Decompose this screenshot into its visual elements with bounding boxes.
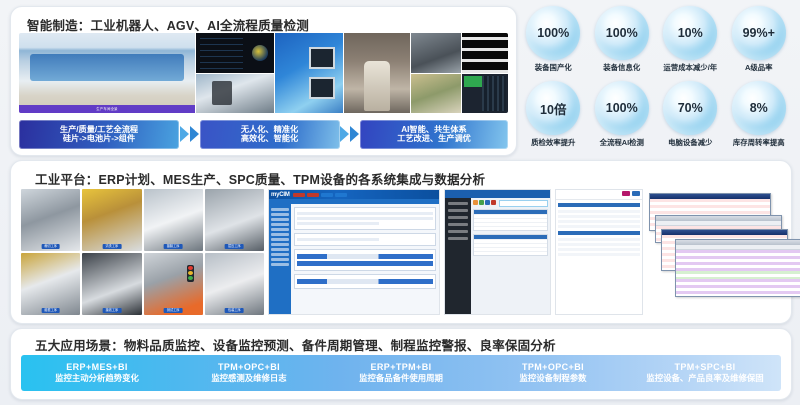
grid-photo-caption: 裁切工序	[41, 244, 60, 249]
application-desc: 监控设备、产品良率及维修保固	[629, 373, 781, 384]
app-table-bottom	[473, 234, 548, 256]
kpi-value-bubble: 70%	[663, 81, 717, 135]
application-column: ERP+MES+BI 监控主动分析趋势变化	[21, 362, 173, 384]
mes-body	[269, 204, 439, 314]
mes-screenshot: myCIM	[268, 189, 440, 315]
kpi-value-bubble: 100%	[595, 6, 649, 60]
app-sidebar	[445, 198, 471, 314]
application-scenarios-bar: ERP+MES+BI 监控主动分析趋势变化 TPM+OPC+BI 监控感测及维修…	[21, 355, 781, 391]
kpi-label: 装备信息化	[603, 62, 640, 73]
cascading-windows-screenshot	[647, 189, 785, 315]
application-desc: 监控备品备件使用周期	[325, 373, 477, 384]
flow-stage-3-line2: 工艺改进、生产调优	[397, 134, 471, 143]
smart-manufacturing-section: 智能制造：工业机器人、AGV、AI全流程质量检测 生产车间全景 生产/质量/工艺…	[10, 6, 517, 156]
mes-form-panel	[294, 207, 436, 230]
kpi-label: 库存周转率提高	[733, 137, 785, 148]
app-main-panel	[471, 198, 550, 314]
industrial-platform-section: 工业平台：ERP计划、MES生产、SPC质量、TPM设备的各系统集成与数据分析 …	[10, 160, 792, 324]
factory-photo-strip: 生产车间全景	[19, 33, 508, 113]
applications-section: 五大应用场景：物料品质监控、设备监控预测、备件周期管理、制程监控警报、良率保固分…	[10, 328, 792, 400]
application-column: ERP+TPM+BI 监控备品备件使用周期	[325, 362, 477, 384]
grid-photo: 清洗工序	[82, 189, 141, 251]
application-tech: ERP+MES+BI	[21, 362, 173, 373]
app-search-input[interactable]	[499, 200, 548, 207]
bi-report-header	[556, 190, 642, 200]
flow-stage-3: AI智能、共生体系 工艺改进、生产调优	[360, 120, 508, 149]
kpi-value-bubble: 8%	[732, 81, 786, 135]
application-desc: 监控感测及维修日志	[173, 373, 325, 384]
photo-production-line: 生产车间全景	[19, 33, 195, 113]
kpi-label: 电脑设备减少	[668, 137, 712, 148]
kpi-value-bubble: 10%	[663, 6, 717, 60]
kpi-label: 质检效率提升	[531, 137, 575, 148]
grid-photo-caption: 包装工序	[225, 308, 244, 313]
application-desc: 监控主动分析趋势变化	[21, 373, 173, 384]
kpi-label: 运营成本减少/年	[663, 62, 717, 73]
applications-title: 五大应用场景：物料品质监控、设备监控预测、备件周期管理、制程监控警报、良率保固分…	[35, 335, 556, 354]
app-titlebar	[445, 190, 550, 198]
flow-stage-1: 生产/质量/工艺全流程 硅片->电池片->组件	[19, 120, 179, 149]
kpi-label: 全流程AI检测	[600, 137, 644, 148]
process-photo-grid: 裁切工序 清洗工序 镀膜工序 层压工序 组框工序 接线工序	[21, 189, 264, 315]
kpi-item: 10% 运营成本减少/年	[657, 6, 724, 79]
kpi-item: 100% 全流程AI检测	[589, 81, 656, 154]
flow-stage-1-line2: 硅片->电池片->组件	[63, 134, 135, 143]
application-tech: TPM+SPC+BI	[629, 362, 781, 373]
legacy-window-4[interactable]	[675, 239, 800, 297]
grid-photo: 包装工序	[205, 253, 264, 315]
kpi-item: 100% 装备国产化	[520, 6, 587, 79]
photo-agv-robot	[344, 33, 410, 113]
photo-optical-inspection	[275, 33, 343, 113]
mes-search-panel	[294, 233, 436, 246]
flow-stage-2: 无人化、精准化 高效化、智能化	[200, 120, 340, 149]
smart-manufacturing-title: 智能制造：工业机器人、AGV、AI全流程质量检测	[27, 15, 309, 34]
grid-photo-caption: 接线工序	[103, 308, 122, 313]
application-column: TPM+OPC+BI 监控设备制程参数	[477, 362, 629, 384]
window-grid-purple-2	[676, 279, 800, 296]
grid-photo-caption: 测试工序	[164, 308, 183, 313]
grid-photo-caption: 清洗工序	[103, 244, 122, 249]
photo-inspection-equipment	[196, 33, 274, 113]
app-body	[445, 198, 550, 314]
application-column: TPM+OPC+BI 监控感测及维修日志	[173, 362, 325, 384]
app-toolbar	[473, 200, 548, 207]
industrial-platform-title: 工业平台：ERP计划、MES生产、SPC质量、TPM设备的各系统集成与数据分析	[35, 169, 485, 188]
app-table-top	[473, 209, 548, 231]
kpi-value-bubble: 100%	[526, 6, 580, 60]
grid-photo: 镀膜工序	[144, 189, 203, 251]
grid-photo-caption: 组框工序	[41, 308, 60, 313]
kpi-label: A级品率	[745, 62, 773, 73]
grid-photo: 组框工序	[21, 253, 80, 315]
kpi-panel: 100% 装备国产化 100% 装备信息化 10% 运营成本减少/年 99%+ …	[520, 6, 792, 154]
kpi-label: 装备国产化	[535, 62, 572, 73]
monitoring-app-screenshot	[444, 189, 551, 315]
grid-photo: 接线工序	[82, 253, 141, 315]
application-desc: 监控设备制程参数	[477, 373, 629, 384]
application-tech: TPM+OPC+BI	[173, 362, 325, 373]
window-grid-purple	[676, 250, 800, 271]
kpi-item: 100% 装备信息化	[589, 6, 656, 79]
kpi-item: 8% 库存周转率提高	[726, 81, 793, 154]
bi-report-screenshot	[555, 189, 643, 315]
mes-sidebar	[269, 204, 291, 314]
photo-line-equipment	[411, 33, 461, 113]
slide-root: 智能制造：工业机器人、AGV、AI全流程质量检测 生产车间全景 生产/质量/工艺…	[0, 0, 800, 405]
photo-module-inspection	[462, 33, 508, 113]
grid-photo: 层压工序	[205, 189, 264, 251]
platform-content-row: 裁切工序 清洗工序 镀膜工序 层压工序 组框工序 接线工序	[21, 189, 785, 315]
process-flow-row: 生产/质量/工艺全流程 硅片->电池片->组件 无人化、精准化 高效化、智能化 …	[19, 119, 508, 149]
flow-stage-2-line2: 高效化、智能化	[241, 134, 298, 143]
flow-stage-2-line1: 无人化、精准化	[241, 125, 298, 134]
window-grid-green	[676, 271, 800, 279]
grid-photo-caption: 镀膜工序	[164, 244, 183, 249]
flow-stage-3-line1: AI智能、共生体系	[401, 125, 467, 134]
mes-tab-strip	[293, 193, 347, 197]
mes-titlebar: myCIM	[269, 190, 439, 199]
kpi-item: 10倍 质检效率提升	[520, 81, 587, 154]
mes-table-panel	[294, 249, 436, 271]
kpi-value-bubble: 100%	[595, 81, 649, 135]
arrow-icon-2	[340, 126, 361, 142]
kpi-value-bubble: 99%+	[732, 6, 786, 60]
signal-tower-icon	[187, 265, 194, 282]
grid-photo: 测试工序	[144, 253, 203, 315]
application-tech: ERP+TPM+BI	[325, 362, 477, 373]
grid-photo: 裁切工序	[21, 189, 80, 251]
grid-photo-caption: 层压工序	[225, 244, 244, 249]
application-tech: TPM+OPC+BI	[477, 362, 629, 373]
mes-table-panel-2	[294, 274, 436, 289]
photo-caption: 生产车间全景	[19, 105, 195, 113]
mes-logo: myCIM	[269, 192, 290, 198]
kpi-grid: 100% 装备国产化 100% 装备信息化 10% 运营成本减少/年 99%+ …	[520, 6, 792, 154]
application-column: TPM+SPC+BI 监控设备、产品良率及维修保固	[629, 362, 781, 384]
flow-stage-1-line1: 生产/质量/工艺全流程	[60, 125, 138, 134]
mes-main-panel	[291, 204, 439, 314]
kpi-item: 70% 电脑设备减少	[657, 81, 724, 154]
kpi-value-bubble: 10倍	[526, 81, 580, 135]
kpi-item: 99%+ A级品率	[726, 6, 793, 79]
arrow-icon-1	[179, 126, 200, 142]
